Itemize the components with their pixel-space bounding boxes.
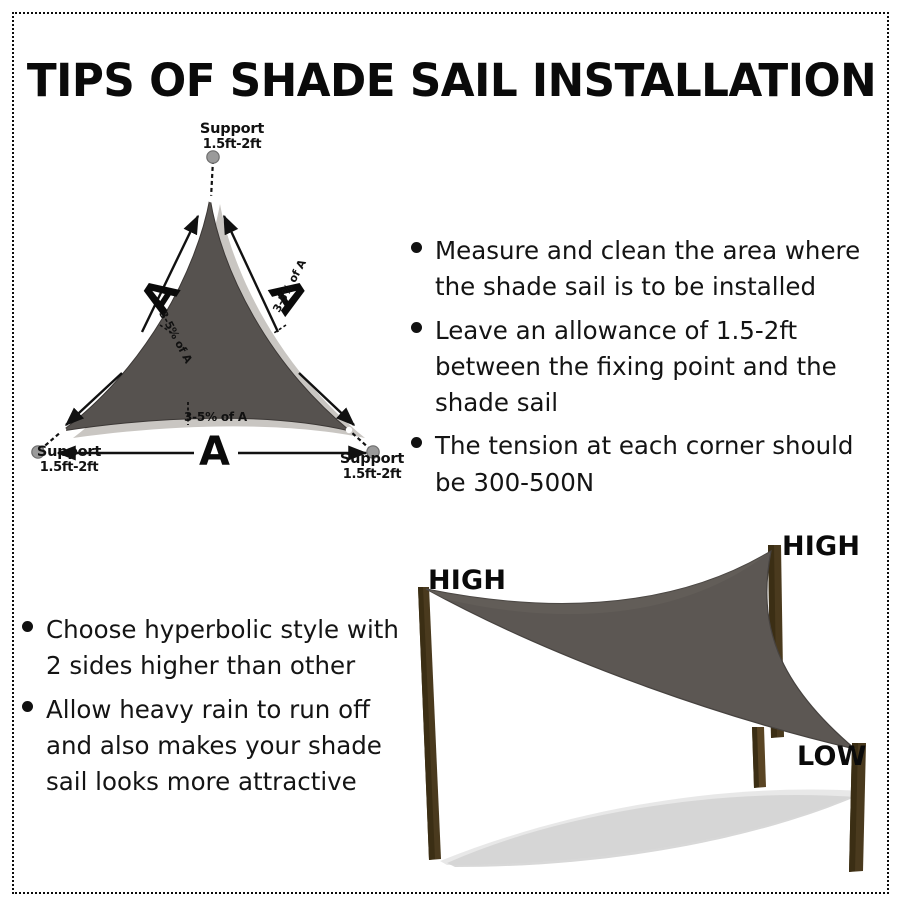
support-label-top-line2: 1.5ft-2ft <box>172 138 292 152</box>
corner-notch-bottom-left <box>60 427 66 433</box>
bullet-dot-icon <box>411 242 422 253</box>
height-label-right: HIGH <box>782 533 860 560</box>
ground-shadow-soft <box>440 789 863 865</box>
curvature-label-bottom: 3-5% of A <box>184 410 247 424</box>
support-label-top: Support 1.5ft-2ft <box>172 122 292 152</box>
height-label-low: LOW <box>797 743 867 770</box>
support-label-bottom-left-line1: Support <box>9 445 129 461</box>
tip-item: Measure and clean the area where the sha… <box>411 233 891 306</box>
installation-tips-right: Measure and clean the area where the sha… <box>411 233 891 508</box>
hyperbolic-shade-sail-diagram: HIGH HIGH LOW <box>385 515 890 893</box>
triangle-shade-sail-diagram: Support 1.5ft-2ft Support 1.5ft-2ft Supp… <box>14 120 434 510</box>
support-label-bottom-left-line2: 1.5ft-2ft <box>9 461 129 475</box>
tip-text: Allow heavy rain to run off and also mak… <box>46 692 402 801</box>
post-center <box>752 727 766 788</box>
bullet-dot-icon <box>411 322 422 333</box>
bottom-right-support-leader <box>350 431 371 450</box>
tip-text: Choose hyperbolic style with 2 sides hig… <box>46 612 402 685</box>
anchor-dot-top <box>207 151 219 163</box>
tip-item: Choose hyperbolic style with 2 sides hig… <box>22 612 412 685</box>
corner-notch-top <box>208 196 215 203</box>
post-back-left <box>418 587 441 860</box>
infographic-canvas: TIPS OF SHADE SAIL INSTALLATION <box>0 0 903 908</box>
sail-body <box>62 198 350 431</box>
height-label-left: HIGH <box>428 567 506 594</box>
top-support-leader <box>211 160 213 198</box>
support-label-bottom-left: Support 1.5ft-2ft <box>9 445 129 475</box>
tip-text: The tension at each corner should be 300… <box>435 428 887 501</box>
support-label-top-line1: Support <box>172 122 292 138</box>
tip-item: Leave an allowance of 1.5-2ft between th… <box>411 313 891 422</box>
page-title: TIPS OF SHADE SAIL INSTALLATION <box>14 58 890 103</box>
corner-notch-bottom-right <box>346 427 352 433</box>
installation-tips-left: Choose hyperbolic style with 2 sides hig… <box>22 612 412 807</box>
bullet-dot-icon <box>22 701 33 712</box>
tip-item: Allow heavy rain to run off and also mak… <box>22 692 412 801</box>
tip-text: Measure and clean the area where the sha… <box>435 233 887 306</box>
bullet-dot-icon <box>22 621 33 632</box>
tip-item: The tension at each corner should be 300… <box>411 428 891 501</box>
tip-text: Leave an allowance of 1.5-2ft between th… <box>435 313 887 422</box>
side-length-label-bottom: A <box>199 432 230 472</box>
bullet-dot-icon <box>411 437 422 448</box>
